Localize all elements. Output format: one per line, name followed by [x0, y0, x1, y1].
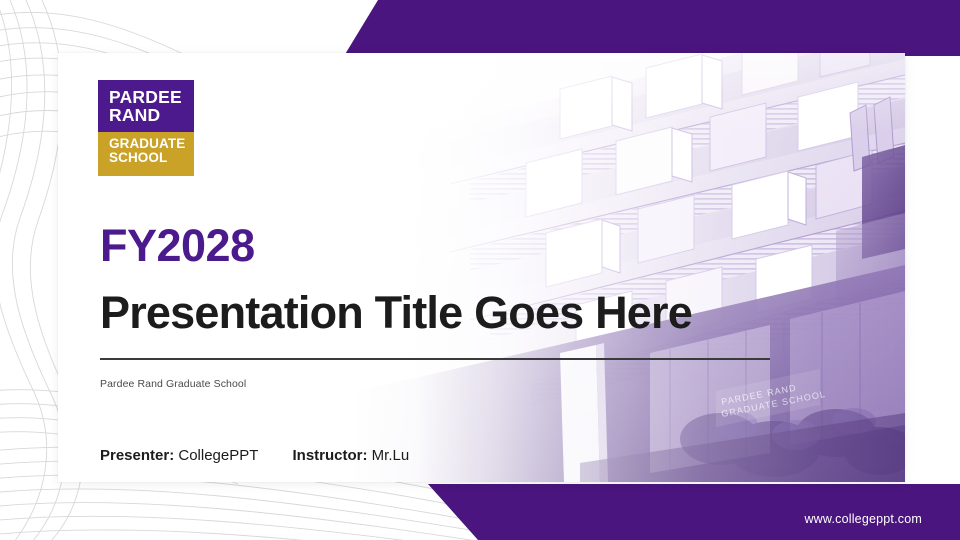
page-title: Presentation Title Goes Here: [100, 290, 692, 335]
slide-canvas: www.collegeppt.com: [0, 0, 960, 540]
instructor-value: Mr.Lu: [372, 447, 410, 464]
photo-left-white-fade: [350, 53, 905, 482]
pardee-rand-logo: PARDEE RAND GRADUATE SCHOOL: [98, 80, 194, 176]
presenter-value: CollegePPT: [178, 447, 258, 464]
logo-line-graduate: GRADUATE: [109, 137, 194, 151]
title-card: PARDEE RAND GRADUATE SCHOOL PARDEE RAND …: [58, 53, 905, 482]
instructor-label: Instructor:: [293, 447, 368, 464]
presenter-label: Presenter:: [100, 447, 174, 464]
logo-line-pardee: PARDEE: [109, 89, 194, 107]
title-divider: [100, 358, 770, 360]
logo-line-rand: RAND: [109, 107, 194, 125]
logo-top-block: PARDEE RAND: [98, 80, 194, 132]
fiscal-year-heading: FY2028: [100, 223, 255, 268]
organization-subtitle: Pardee Rand Graduate School: [100, 378, 246, 390]
logo-line-school: SCHOOL: [109, 151, 194, 165]
footer-website-url: www.collegeppt.com: [804, 512, 922, 526]
top-purple-band: [0, 0, 960, 56]
campus-building-photo: PARDEE RAND GRADUATE SCHOOL: [350, 53, 905, 482]
credits-line: Presenter: CollegePPT Instructor: Mr.Lu: [100, 447, 409, 464]
logo-bottom-block: GRADUATE SCHOOL: [98, 132, 194, 176]
